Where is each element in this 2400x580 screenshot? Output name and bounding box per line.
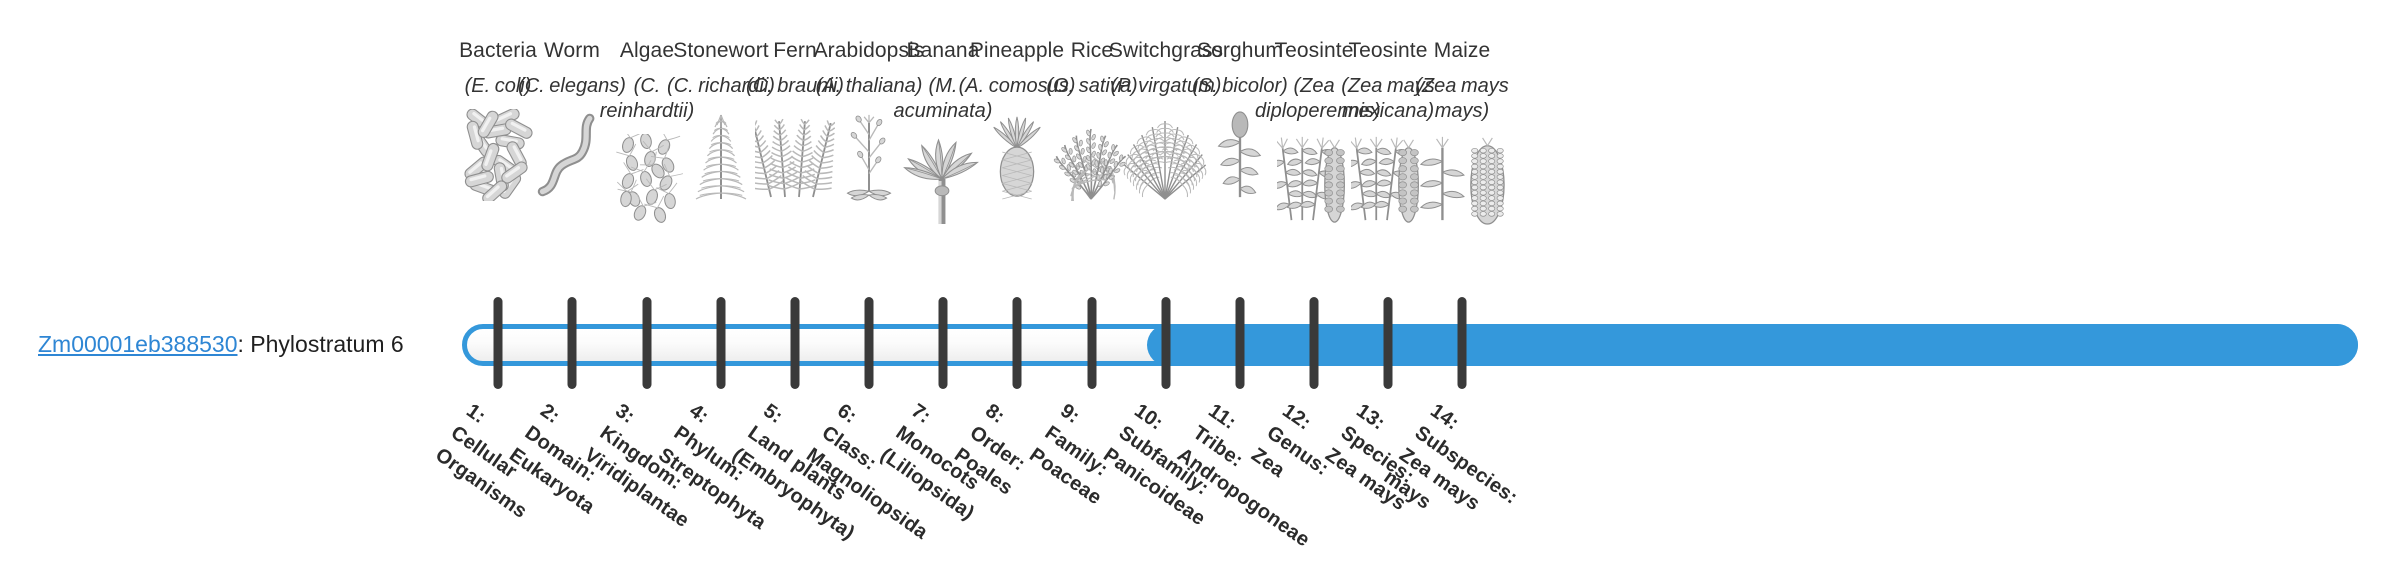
rank-label-14: 14: Subspecies: Zea mays mays <box>1378 398 1563 573</box>
phylostratum-tick-9[interactable] <box>1088 297 1097 389</box>
species-scientific-name: (Zea mays mays) <box>1403 74 1521 124</box>
species-header-row: Bacteria(E. coli) <box>0 0 2400 310</box>
species-common-name: Maize <box>1434 38 1491 64</box>
species-column-14: Maize(Zea mays mays) <box>1403 38 1521 226</box>
phylostratum-tick-6[interactable] <box>865 297 874 389</box>
phylostratum-tick-10[interactable] <box>1162 297 1171 389</box>
phylostratum-tick-13[interactable] <box>1384 297 1393 389</box>
phylostratum-tick-7[interactable] <box>939 297 948 389</box>
phylostratum-tick-4[interactable] <box>717 297 726 389</box>
phylostratum-tick-12[interactable] <box>1310 297 1319 389</box>
phylostratum-tick-3[interactable] <box>643 297 652 389</box>
phylostratum-tick-5[interactable] <box>791 297 800 389</box>
maize-plant-and-ear-icon <box>1403 130 1521 226</box>
phylostratum-timeline: Bacteria(E. coli) <box>0 0 2400 580</box>
phylostratum-tick-14[interactable] <box>1458 297 1467 389</box>
phylostratum-bar[interactable] <box>0 318 2400 372</box>
phylostratum-tick-8[interactable] <box>1013 297 1022 389</box>
phylostratum-tick-11[interactable] <box>1236 297 1245 389</box>
bar-fill <box>1147 324 2358 366</box>
phylostratum-tick-1[interactable] <box>494 297 503 389</box>
phylostratum-tick-2[interactable] <box>568 297 577 389</box>
